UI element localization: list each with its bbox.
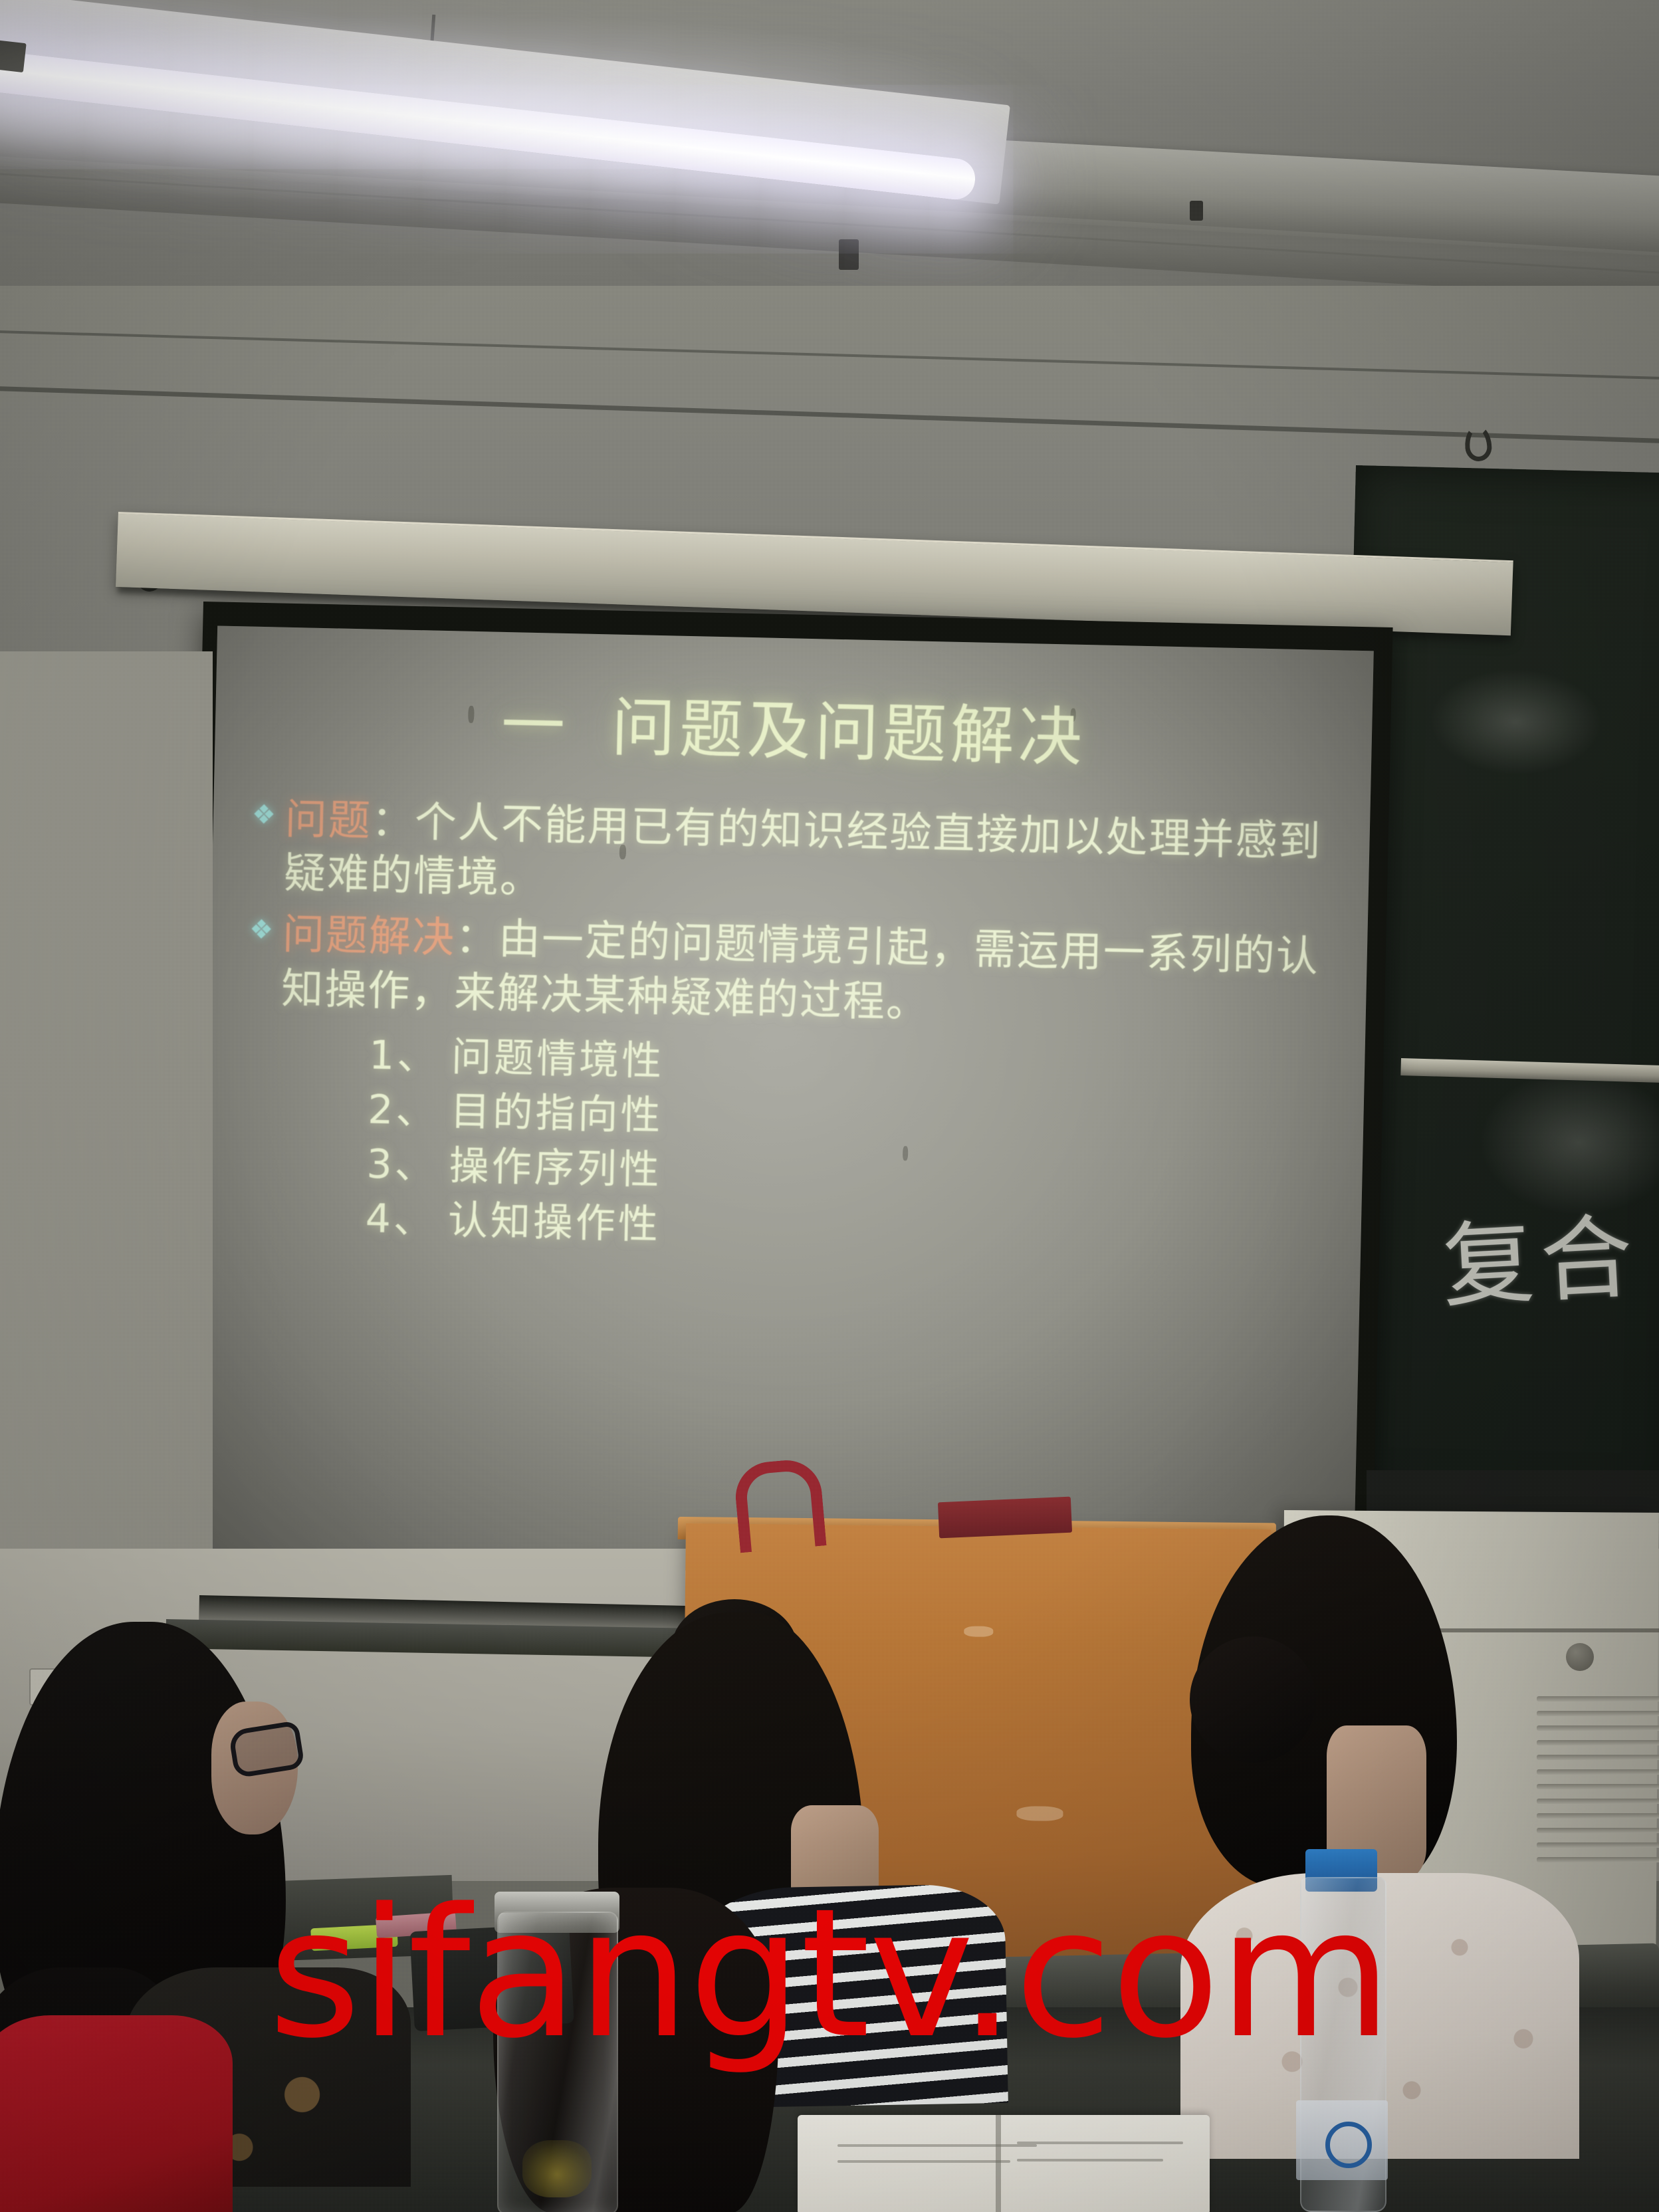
red-bag-handle	[732, 1458, 826, 1553]
wall-seam	[0, 330, 1659, 381]
chalk-smudge	[1428, 667, 1604, 777]
presentation-slide: 一问题及问题解决 ❖ 问题：个人不能用已有的知识经验直接加以处理并感到疑难的情境…	[197, 625, 1374, 1578]
slide-bullet-term: 问题解决	[282, 910, 456, 962]
ceiling-clip	[839, 239, 859, 270]
slide-bullet-body: 问题解决：由一定的问题情境引起，需运用一系列的认知操作，来解决某种疑难的过程。	[280, 907, 1333, 1039]
slide-bullet: ❖ 问题：个人不能用已有的知识经验直接加以处理并感到疑难的情境。	[246, 791, 1335, 923]
ceiling-clip	[1190, 201, 1203, 221]
list-item: 3、操作序列性	[366, 1145, 1328, 1206]
diamond-bullet-icon: ❖	[249, 919, 273, 942]
left-student-red-top	[0, 2015, 233, 2212]
list-item-index: 4、	[365, 1196, 437, 1244]
slide-bullet-term: 问题	[284, 794, 372, 845]
list-item-label: 操作序列性	[449, 1143, 662, 1194]
red-book-on-podium	[938, 1497, 1072, 1539]
classroom-photo: 复合 一问题及问题解决 ❖ 问题：个人不能用已有的知识经验直接加以处理并感到疑难…	[0, 0, 1659, 2212]
slide-bullet-text: 个人不能用已有的知识经验直接加以处理并感到疑难的情境。	[283, 798, 1322, 903]
cabinet-vent-grille	[1537, 1696, 1659, 1876]
list-item-index: 3、	[366, 1141, 438, 1189]
book-spine	[996, 2115, 1001, 2212]
tube-endcap	[0, 40, 27, 72]
tea-leaves	[522, 2140, 592, 2197]
ceiling	[0, 0, 1659, 312]
slide-title: 一问题及问题解决	[249, 685, 1338, 779]
slide-bullet: ❖ 问题解决：由一定的问题情境引起，需运用一系列的认知操作，来解决某种疑难的过程…	[243, 907, 1333, 1039]
list-item-index: 2、	[368, 1087, 439, 1135]
left-wall	[0, 651, 213, 1688]
slide-bullet-body: 问题：个人不能用已有的知识经验直接加以处理并感到疑难的情境。	[283, 792, 1335, 923]
list-item: 2、目的指向性	[368, 1090, 1329, 1151]
cabinet-knob-icon[interactable]	[1566, 1643, 1594, 1671]
right-student-hair-bun	[1190, 1636, 1316, 1763]
list-item-label: 问题情境性	[451, 1034, 665, 1085]
list-item-label: 目的指向性	[450, 1088, 663, 1139]
list-item: 4、认知操作性	[365, 1199, 1327, 1260]
diamond-bullet-icon: ❖	[252, 803, 275, 826]
list-item-index: 1、	[368, 1032, 440, 1080]
slide-title-text: 问题及问题解决	[611, 690, 1087, 775]
open-textbook	[798, 2115, 1210, 2212]
slide-title-number: 一	[500, 688, 570, 764]
projection-screen-surface: 一问题及问题解决 ❖ 问题：个人不能用已有的知识经验直接加以处理并感到疑难的情境…	[197, 625, 1374, 1578]
slide-numbered-list: 1、问题情境性 2、目的指向性 3、操作序列性 4、认知操作性	[239, 1033, 1330, 1260]
wall-seam	[0, 386, 1659, 445]
list-item-label: 认知操作性	[447, 1197, 661, 1248]
chalk-smudge	[1478, 1067, 1659, 1218]
blackboard-chalk-text: 复合	[1440, 1211, 1642, 1313]
list-item: 1、问题情境性	[369, 1036, 1331, 1097]
slide-bullet-colon: ：	[371, 796, 415, 845]
bottle-label-logo-icon	[1325, 2122, 1372, 2168]
slide-bullet-colon: ：	[455, 914, 499, 963]
